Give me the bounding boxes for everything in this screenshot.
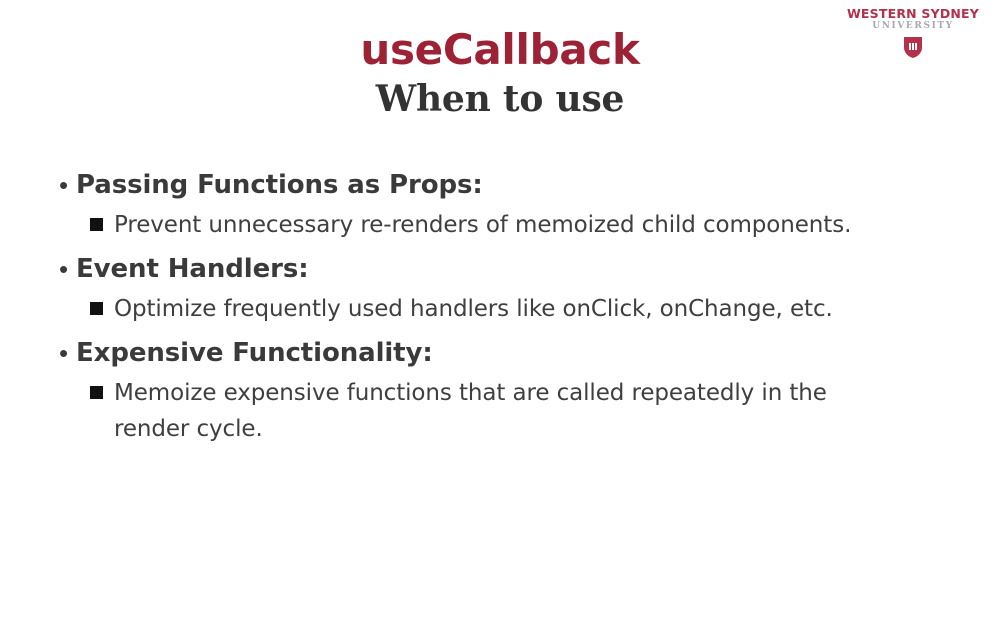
bullet-dot-icon: • [56,163,76,207]
bullet-square-icon [90,207,114,231]
topic-row: • Passing Functions as Props: [56,163,956,207]
bullet-square-icon [90,291,114,315]
topic-row: • Expensive Functionality: [56,331,956,375]
page-subtitle: When to use [0,79,1000,120]
sub-list-item: Prevent unnecessary re-renders of memoiz… [56,207,956,243]
slide-canvas: WESTERN SYDNEY UNIVERSITY useCallback Wh… [0,0,1000,624]
sub-item-text: Memoize expensive functions that are cal… [114,375,904,447]
list-item: • Event Handlers: Optimize frequently us… [56,247,956,327]
sub-item-text: Optimize frequently used handlers like o… [114,291,833,327]
topic-row: • Event Handlers: [56,247,956,291]
list-item: • Passing Functions as Props: Prevent un… [56,163,956,243]
list-item: • Expensive Functionality: Memoize expen… [56,331,956,447]
topic-label: Passing Functions as Props: [76,163,483,207]
sub-list-item: Optimize frequently used handlers like o… [56,291,956,327]
bullet-square-icon [90,375,114,399]
logo-wordmark: WESTERN SYDNEY [840,8,986,21]
topic-label: Expensive Functionality: [76,331,433,375]
bullet-dot-icon: • [56,247,76,291]
sub-item-text: Prevent unnecessary re-renders of memoiz… [114,207,851,243]
topic-label: Event Handlers: [76,247,309,291]
sub-list-item: Memoize expensive functions that are cal… [56,375,956,447]
title-block: useCallback When to use [0,26,1000,120]
bullet-list: • Passing Functions as Props: Prevent un… [56,163,956,451]
bullet-dot-icon: • [56,331,76,375]
page-title: useCallback [0,26,1000,73]
